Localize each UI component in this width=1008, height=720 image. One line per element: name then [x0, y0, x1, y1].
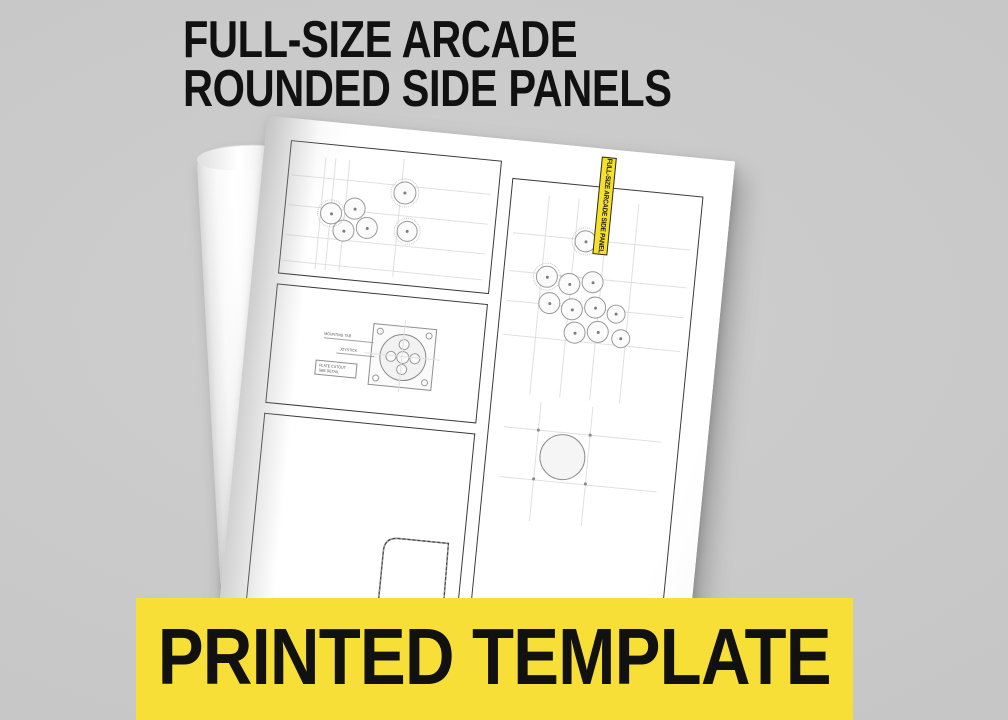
guide-dot	[589, 434, 592, 437]
title-line-2: ROUNDED SIDE PANELS	[183, 67, 672, 113]
guide-dot	[584, 482, 587, 485]
page-title: FULL-SIZE ARCADE ROUNDED SIDE PANELS	[183, 18, 794, 113]
banner-label: PRINTED TEMPLATE	[158, 611, 831, 703]
guide-dot	[532, 477, 535, 480]
guide-dot	[537, 428, 540, 431]
title-line-1: FULL-SIZE ARCADE	[183, 18, 672, 64]
printed-template-banner: PRINTED TEMPLATE	[136, 598, 853, 720]
sheet-surface: MOUNTING TAB JOYSTICK PLATE CUTOUT SEE D…	[217, 116, 736, 679]
poster-canvas: FULL-SIZE ARCADE ROUNDED SIDE PANELS	[0, 0, 1008, 720]
template-sheet: MOUNTING TAB JOYSTICK PLATE CUTOUT SEE D…	[217, 116, 736, 679]
